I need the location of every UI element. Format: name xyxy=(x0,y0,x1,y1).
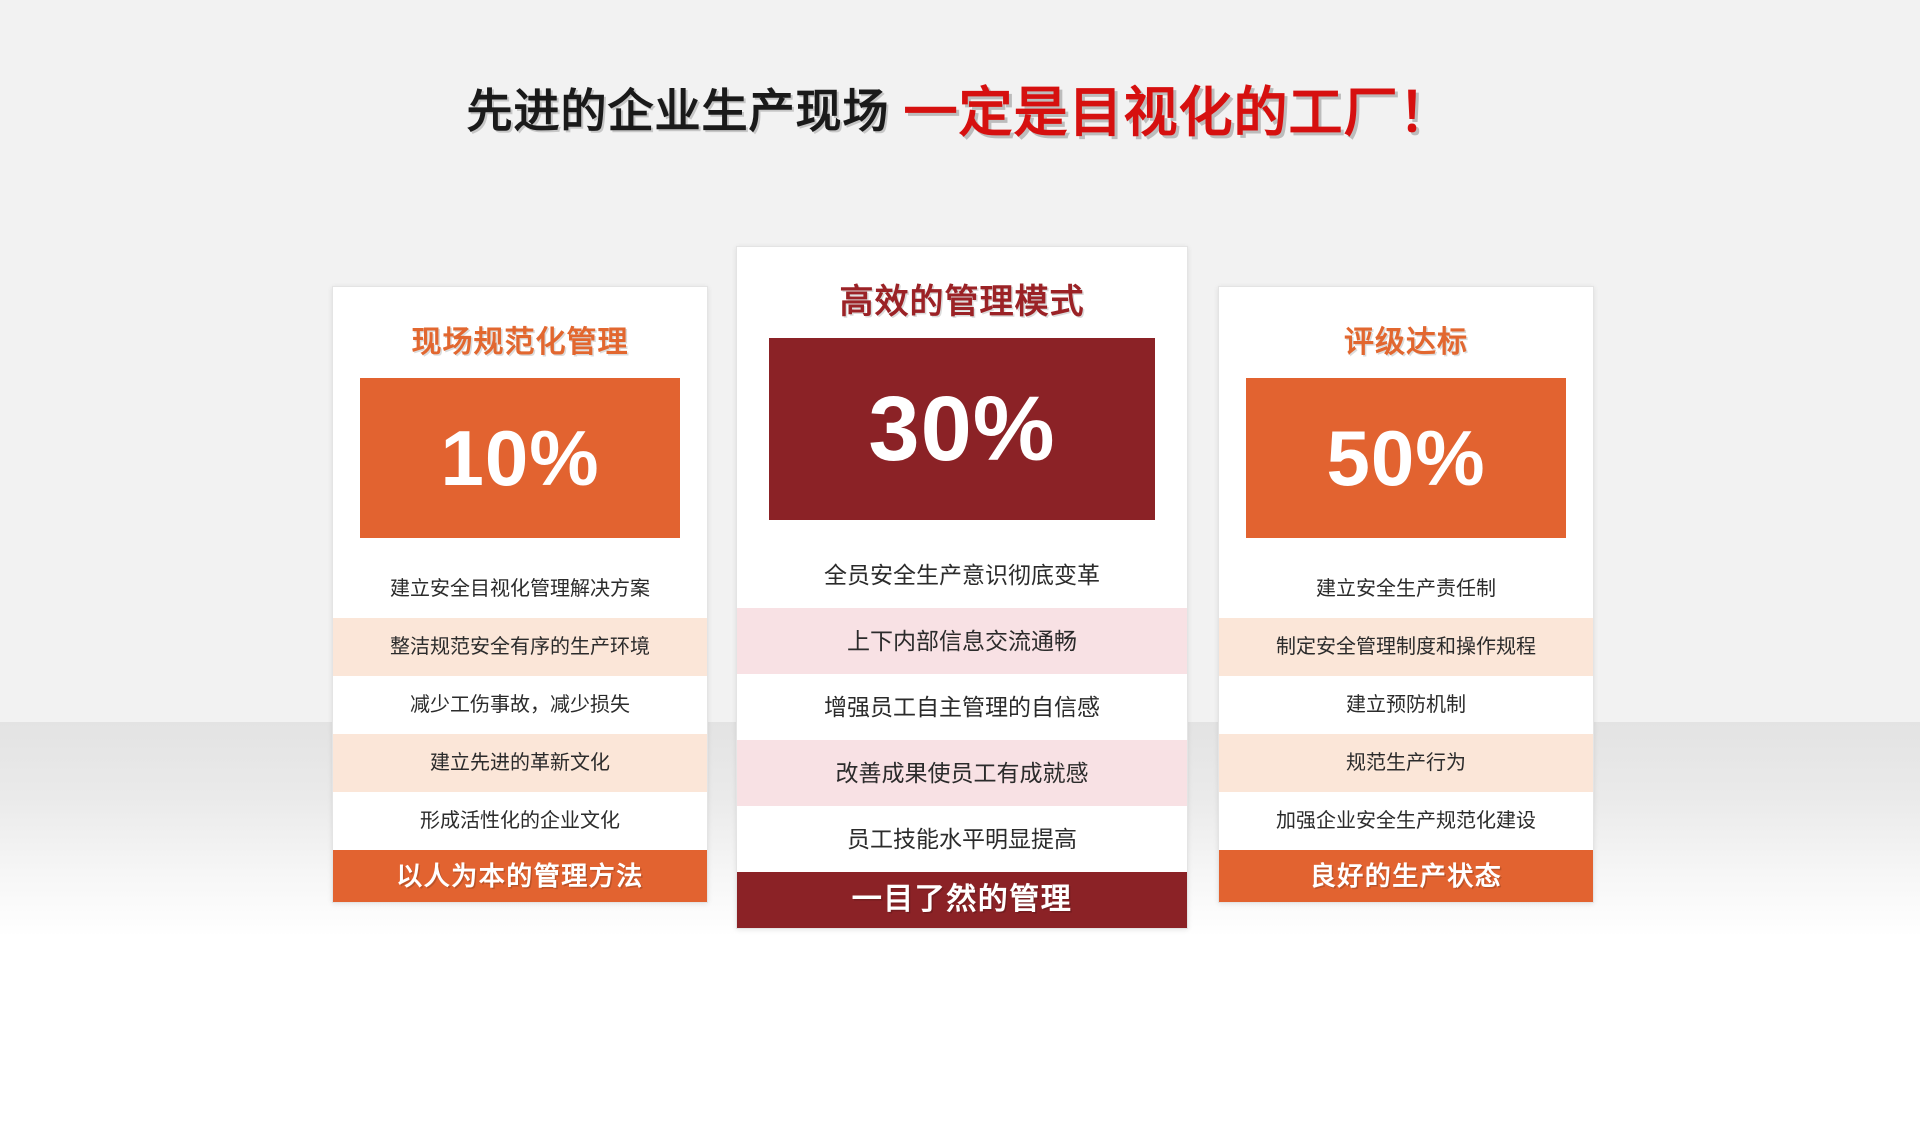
list-item: 减少工伤事故，减少损失 xyxy=(333,676,707,734)
benefit-list: 建立安全目视化管理解决方案 整洁规范安全有序的生产环境 减少工伤事故，减少损失 … xyxy=(333,560,707,850)
card-rating-compliance[interactable]: 评级达标 50% 建立安全生产责任制 制定安全管理制度和操作规程 建立预防机制 … xyxy=(1218,286,1594,903)
list-item: 上下内部信息交流通畅 xyxy=(737,608,1187,674)
percent-value: 10% xyxy=(440,419,599,497)
page-title-black-segment: 先进的企业生产现场 xyxy=(467,75,890,141)
benefit-list: 全员安全生产意识彻底变革 上下内部信息交流通畅 增强员工自主管理的自信感 改善成… xyxy=(737,542,1187,872)
card-site-standardization[interactable]: 现场规范化管理 10% 建立安全目视化管理解决方案 整洁规范安全有序的生产环境 … xyxy=(332,286,708,903)
percent-badge: 50% xyxy=(1246,378,1566,538)
list-item: 整洁规范安全有序的生产环境 xyxy=(333,618,707,676)
list-item: 增强员工自主管理的自信感 xyxy=(737,674,1187,740)
list-item: 全员安全生产意识彻底变革 xyxy=(737,542,1187,608)
percent-value: 50% xyxy=(1326,419,1485,497)
card-heading: 现场规范化管理 xyxy=(333,287,707,378)
background-bottom-panel xyxy=(0,937,1920,1125)
page-title-red-segment: 一定是目视化的工厂！ xyxy=(904,68,1454,147)
percent-badge: 30% xyxy=(769,338,1155,520)
list-item: 规范生产行为 xyxy=(1219,734,1593,792)
benefit-list: 建立安全生产责任制 制定安全管理制度和操作规程 建立预防机制 规范生产行为 加强… xyxy=(1219,560,1593,850)
page-title: 先进的企业生产现场一定是目视化的工厂！ xyxy=(0,68,1920,147)
list-item: 员工技能水平明显提高 xyxy=(737,806,1187,872)
list-item: 建立预防机制 xyxy=(1219,676,1593,734)
card-heading: 高效的管理模式 xyxy=(737,247,1187,338)
list-item: 改善成果使员工有成就感 xyxy=(737,740,1187,806)
list-item: 建立先进的革新文化 xyxy=(333,734,707,792)
list-item: 形成活性化的企业文化 xyxy=(333,792,707,850)
list-item: 制定安全管理制度和操作规程 xyxy=(1219,618,1593,676)
list-item: 建立安全目视化管理解决方案 xyxy=(333,560,707,618)
card-footer-banner: 以人为本的管理方法 xyxy=(333,850,707,902)
card-efficient-management[interactable]: 高效的管理模式 30% 全员安全生产意识彻底变革 上下内部信息交流通畅 增强员工… xyxy=(736,246,1188,929)
list-item: 建立安全生产责任制 xyxy=(1219,560,1593,618)
card-footer-banner: 良好的生产状态 xyxy=(1219,850,1593,902)
card-footer-banner: 一目了然的管理 xyxy=(737,872,1187,928)
list-item: 加强企业安全生产规范化建设 xyxy=(1219,792,1593,850)
percent-value: 30% xyxy=(868,383,1055,475)
percent-badge: 10% xyxy=(360,378,680,538)
card-heading: 评级达标 xyxy=(1219,287,1593,378)
